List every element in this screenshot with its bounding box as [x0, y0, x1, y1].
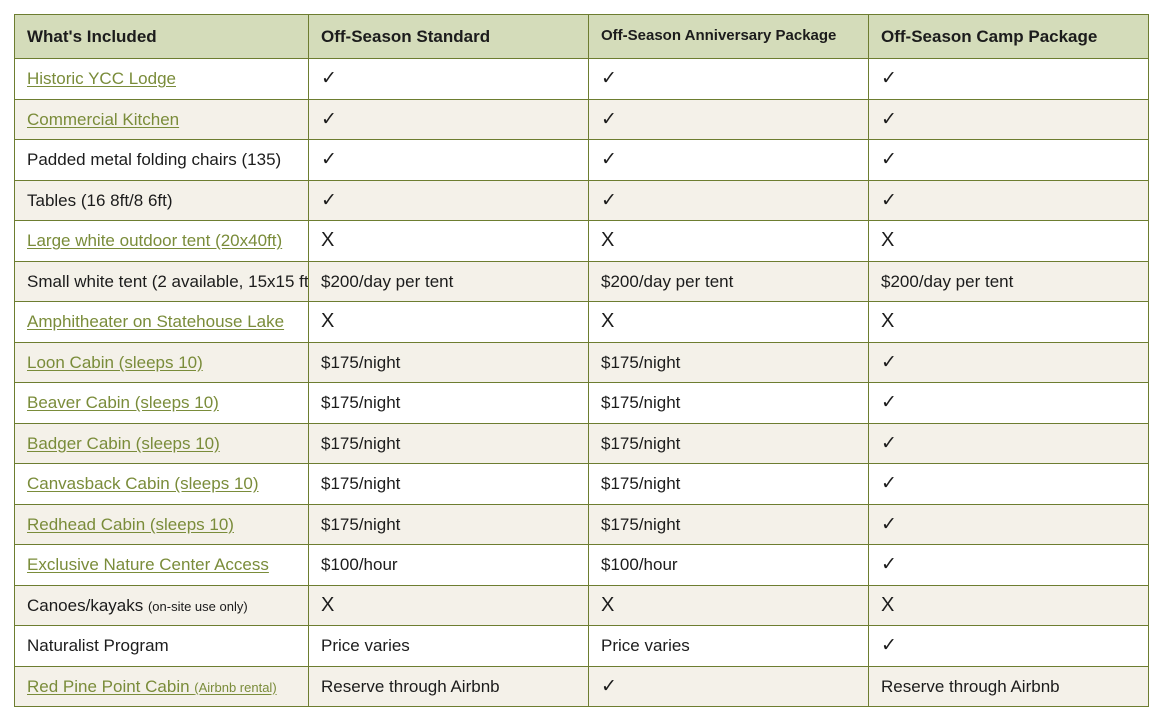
check-icon: ✓: [881, 69, 897, 88]
cell-anniversary: ✓: [589, 180, 869, 221]
cell-feature: Commercial Kitchen: [15, 99, 309, 140]
cell-anniversary: $175/night: [589, 342, 869, 383]
cell-feature: Badger Cabin (sleeps 10): [15, 423, 309, 464]
check-icon: ✓: [601, 191, 617, 210]
feature-link[interactable]: Exclusive Nature Center Access: [27, 555, 269, 574]
cell-feature: Beaver Cabin (sleeps 10): [15, 383, 309, 424]
included-comparison-table: What's Included Off-Season Standard Off-…: [14, 14, 1149, 707]
table-row: Tables (16 8ft/8 6ft)✓✓✓: [15, 180, 1149, 221]
cell-text: $200/day per tent: [321, 272, 453, 291]
cell-standard: $100/hour: [309, 545, 589, 586]
cell-feature: Red Pine Point Cabin (Airbnb rental): [15, 666, 309, 707]
cell-camp: ✓: [869, 180, 1149, 221]
cell-text: $200/day per tent: [881, 272, 1013, 291]
cell-anniversary: X: [589, 221, 869, 262]
check-icon: ✓: [321, 191, 337, 210]
cross-icon: X: [321, 311, 334, 331]
feature-link[interactable]: Large white outdoor tent (20x40ft): [27, 231, 282, 250]
table-row: Red Pine Point Cabin (Airbnb rental)Rese…: [15, 666, 1149, 707]
cell-feature: Exclusive Nature Center Access: [15, 545, 309, 586]
cell-camp: Reserve through Airbnb: [869, 666, 1149, 707]
cell-standard: X: [309, 221, 589, 262]
feature-label: Canoes/kayaks: [27, 596, 148, 615]
cell-anniversary: X: [589, 302, 869, 343]
table-row: Exclusive Nature Center Access$100/hour$…: [15, 545, 1149, 586]
cell-text: Reserve through Airbnb: [881, 677, 1060, 696]
cell-anniversary: $175/night: [589, 423, 869, 464]
check-icon: ✓: [321, 69, 337, 88]
cell-text: $200/day per tent: [601, 272, 733, 291]
cell-camp: ✓: [869, 140, 1149, 181]
cell-text: Reserve through Airbnb: [321, 677, 500, 696]
cell-feature: Loon Cabin (sleeps 10): [15, 342, 309, 383]
cell-standard: $175/night: [309, 423, 589, 464]
cross-icon: X: [601, 311, 614, 331]
cell-feature: Redhead Cabin (sleeps 10): [15, 504, 309, 545]
cell-anniversary: $100/hour: [589, 545, 869, 586]
cell-feature: Tables (16 8ft/8 6ft): [15, 180, 309, 221]
table-row: Naturalist ProgramPrice variesPrice vari…: [15, 626, 1149, 667]
feature-link[interactable]: Beaver Cabin (sleeps 10): [27, 393, 219, 412]
check-icon: ✓: [881, 110, 897, 129]
cell-camp: X: [869, 302, 1149, 343]
table-row: Redhead Cabin (sleeps 10)$175/night$175/…: [15, 504, 1149, 545]
cell-text: $100/hour: [321, 555, 398, 574]
feature-link[interactable]: Commercial Kitchen: [27, 110, 179, 129]
check-icon: ✓: [881, 555, 897, 574]
cell-standard: ✓: [309, 140, 589, 181]
cell-anniversary: Price varies: [589, 626, 869, 667]
table-row: Canvasback Cabin (sleeps 10)$175/night$1…: [15, 464, 1149, 505]
cell-text: $175/night: [601, 474, 680, 493]
cell-anniversary: ✓: [589, 140, 869, 181]
check-icon: ✓: [321, 150, 337, 169]
check-icon: ✓: [881, 636, 897, 655]
feature-label: Tables (16 8ft/8 6ft): [27, 191, 173, 210]
cell-feature: Padded metal folding chairs (135): [15, 140, 309, 181]
cell-text: $175/night: [321, 393, 400, 412]
check-icon: ✓: [881, 150, 897, 169]
check-icon: ✓: [601, 677, 617, 696]
cell-text: $175/night: [601, 353, 680, 372]
cell-anniversary: $175/night: [589, 464, 869, 505]
cell-camp: ✓: [869, 342, 1149, 383]
cross-icon: X: [881, 230, 894, 250]
cell-camp: ✓: [869, 59, 1149, 100]
check-icon: ✓: [601, 150, 617, 169]
cell-standard: ✓: [309, 59, 589, 100]
cell-text: $175/night: [601, 393, 680, 412]
feature-label: Naturalist Program: [27, 636, 169, 655]
cell-camp: X: [869, 221, 1149, 262]
table-row: Badger Cabin (sleeps 10)$175/night$175/n…: [15, 423, 1149, 464]
cell-camp: ✓: [869, 545, 1149, 586]
cell-text: $175/night: [601, 515, 680, 534]
cell-anniversary: $175/night: [589, 504, 869, 545]
cell-text: $175/night: [321, 515, 400, 534]
cell-camp: ✓: [869, 504, 1149, 545]
table-row: Historic YCC Lodge✓✓✓: [15, 59, 1149, 100]
table-row: Amphitheater on Statehouse LakeXXX: [15, 302, 1149, 343]
cell-feature: Canvasback Cabin (sleeps 10): [15, 464, 309, 505]
cell-anniversary: ✓: [589, 59, 869, 100]
cell-camp: ✓: [869, 99, 1149, 140]
cell-anniversary: $175/night: [589, 383, 869, 424]
cell-standard: X: [309, 302, 589, 343]
cell-feature: Naturalist Program: [15, 626, 309, 667]
feature-label: Padded metal folding chairs (135): [27, 150, 281, 169]
cell-camp: X: [869, 585, 1149, 626]
feature-suffix-label: (on-site use only): [148, 599, 248, 614]
cross-icon: X: [881, 595, 894, 615]
check-icon: ✓: [321, 110, 337, 129]
feature-link[interactable]: Loon Cabin (sleeps 10): [27, 353, 203, 372]
cell-standard: X: [309, 585, 589, 626]
cell-anniversary: ✓: [589, 666, 869, 707]
cell-camp: $200/day per tent: [869, 261, 1149, 302]
header-row: What's Included Off-Season Standard Off-…: [15, 15, 1149, 59]
cell-camp: ✓: [869, 464, 1149, 505]
feature-suffix-label[interactable]: (Airbnb rental): [194, 680, 276, 695]
cross-icon: X: [601, 595, 614, 615]
check-icon: ✓: [601, 69, 617, 88]
cross-icon: X: [321, 595, 334, 615]
check-icon: ✓: [881, 393, 897, 412]
cell-camp: ✓: [869, 626, 1149, 667]
cell-standard: ✓: [309, 180, 589, 221]
cell-anniversary: ✓: [589, 99, 869, 140]
cell-standard: $175/night: [309, 383, 589, 424]
cell-standard: $175/night: [309, 504, 589, 545]
feature-link[interactable]: Badger Cabin (sleeps 10): [27, 434, 220, 453]
table-row: Commercial Kitchen✓✓✓: [15, 99, 1149, 140]
cross-icon: X: [601, 230, 614, 250]
table-row: Large white outdoor tent (20x40ft)XXX: [15, 221, 1149, 262]
check-icon: ✓: [881, 515, 897, 534]
feature-link[interactable]: Canvasback Cabin (sleeps 10): [27, 474, 259, 493]
cell-feature: Historic YCC Lodge: [15, 59, 309, 100]
check-icon: ✓: [881, 474, 897, 493]
cell-camp: ✓: [869, 423, 1149, 464]
table-row: Loon Cabin (sleeps 10)$175/night$175/nig…: [15, 342, 1149, 383]
cell-text: Price varies: [601, 636, 690, 655]
page-root: What's Included Off-Season Standard Off-…: [0, 0, 1162, 721]
cell-standard: ✓: [309, 99, 589, 140]
feature-link[interactable]: Historic YCC Lodge: [27, 69, 176, 88]
column-header-off-season-standard: Off-Season Standard: [309, 15, 589, 59]
cell-text: $100/hour: [601, 555, 678, 574]
table-row: Small white tent (2 available, 15x15 ft)…: [15, 261, 1149, 302]
column-header-off-season-camp-package: Off-Season Camp Package: [869, 15, 1149, 59]
check-icon: ✓: [881, 191, 897, 210]
column-header-feature: What's Included: [15, 15, 309, 59]
table-row: Padded metal folding chairs (135)✓✓✓: [15, 140, 1149, 181]
cell-feature: Canoes/kayaks (on-site use only): [15, 585, 309, 626]
cell-text: $175/night: [601, 434, 680, 453]
column-header-off-season-anniversary-package: Off-Season Anniversary Package: [589, 15, 869, 59]
table-row: Canoes/kayaks (on-site use only)XXX: [15, 585, 1149, 626]
cell-standard: $175/night: [309, 464, 589, 505]
cell-standard: Reserve through Airbnb: [309, 666, 589, 707]
cell-text: $175/night: [321, 474, 400, 493]
check-icon: ✓: [881, 353, 897, 372]
cell-text: Price varies: [321, 636, 410, 655]
cell-feature: Amphitheater on Statehouse Lake: [15, 302, 309, 343]
feature-link[interactable]: Red Pine Point Cabin: [27, 677, 194, 696]
table-row: Beaver Cabin (sleeps 10)$175/night$175/n…: [15, 383, 1149, 424]
cell-feature: Large white outdoor tent (20x40ft): [15, 221, 309, 262]
cell-feature: Small white tent (2 available, 15x15 ft): [15, 261, 309, 302]
cross-icon: X: [881, 311, 894, 331]
cell-standard: Price varies: [309, 626, 589, 667]
cell-standard: $175/night: [309, 342, 589, 383]
cell-standard: $200/day per tent: [309, 261, 589, 302]
table-header: What's Included Off-Season Standard Off-…: [15, 15, 1149, 59]
feature-link[interactable]: Amphitheater on Statehouse Lake: [27, 312, 284, 331]
feature-link[interactable]: Redhead Cabin (sleeps 10): [27, 515, 234, 534]
feature-label: Small white tent (2 available, 15x15 ft): [27, 272, 309, 291]
check-icon: ✓: [881, 434, 897, 453]
cell-text: $175/night: [321, 434, 400, 453]
cross-icon: X: [321, 230, 334, 250]
check-icon: ✓: [601, 110, 617, 129]
cell-camp: ✓: [869, 383, 1149, 424]
cell-text: $175/night: [321, 353, 400, 372]
cell-anniversary: $200/day per tent: [589, 261, 869, 302]
table-body: Historic YCC Lodge✓✓✓Commercial Kitchen✓…: [15, 59, 1149, 707]
cell-anniversary: X: [589, 585, 869, 626]
